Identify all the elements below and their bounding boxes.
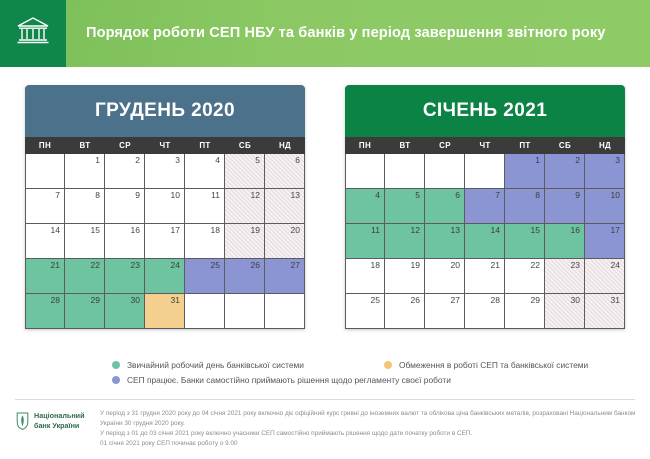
day-cell[interactable]: 1 <box>65 154 105 189</box>
day-number: 25 <box>211 261 220 270</box>
day-cell[interactable]: 9 <box>545 189 585 224</box>
day-cell-empty <box>185 294 225 329</box>
nbu-logo-line2: банк України <box>34 421 79 430</box>
day-number: 7 <box>55 191 60 200</box>
day-cell[interactable]: 22 <box>65 259 105 294</box>
day-number: 1 <box>95 156 100 165</box>
day-cell[interactable]: 9 <box>105 189 145 224</box>
day-cell-empty <box>25 154 65 189</box>
header-icon-container <box>0 0 66 67</box>
weekday-label-wed: СР <box>105 137 145 154</box>
day-number: 24 <box>611 261 620 270</box>
day-number: 30 <box>571 296 580 305</box>
day-number: 28 <box>51 296 60 305</box>
day-number: 26 <box>251 261 260 270</box>
page-header: Порядок роботи СЕП НБУ та банків у періо… <box>0 0 650 67</box>
day-cell[interactable]: 30 <box>545 294 585 329</box>
day-cell[interactable]: 13 <box>265 189 305 224</box>
day-cell[interactable]: 20 <box>265 224 305 259</box>
day-cell[interactable]: 19 <box>225 224 265 259</box>
legend-dot-green-icon <box>112 361 120 369</box>
day-cell[interactable]: 16 <box>545 224 585 259</box>
legend-row-2: СЕП працює. Банки самостійно приймають р… <box>112 375 632 385</box>
day-number: 12 <box>251 191 260 200</box>
day-number: 9 <box>135 191 140 200</box>
weekday-label-wed: СР <box>425 137 465 154</box>
day-cell[interactable]: 21 <box>465 259 505 294</box>
day-number: 13 <box>291 191 300 200</box>
day-cell[interactable]: 27 <box>265 259 305 294</box>
day-cell[interactable]: 25 <box>185 259 225 294</box>
weekday-label-mon: ПН <box>25 137 65 154</box>
weekday-label-tue: ВТ <box>65 137 105 154</box>
day-number: 20 <box>451 261 460 270</box>
weekday-label-thu: ЧТ <box>145 137 185 154</box>
legend-row-1: Звичайний робочий день банківської систе… <box>112 360 632 370</box>
day-number: 14 <box>51 226 60 235</box>
day-cell[interactable]: 4 <box>185 154 225 189</box>
day-number: 12 <box>411 226 420 235</box>
day-cell-empty <box>425 154 465 189</box>
weekday-label-thu: ЧТ <box>465 137 505 154</box>
day-cell-empty <box>345 154 385 189</box>
day-cell[interactable]: 13 <box>425 224 465 259</box>
day-cell[interactable]: 18 <box>345 259 385 294</box>
day-cell[interactable]: 23 <box>105 259 145 294</box>
day-cell[interactable]: 30 <box>105 294 145 329</box>
nbu-logo-text: Національний банк України <box>34 411 85 430</box>
day-cell[interactable]: 8 <box>505 189 545 224</box>
day-number: 2 <box>135 156 140 165</box>
day-number: 15 <box>91 226 100 235</box>
footer-note-3: 01 січня 2021 року СЕП починає роботу о … <box>100 439 636 449</box>
day-number: 29 <box>531 296 540 305</box>
day-number: 18 <box>371 261 380 270</box>
day-cell[interactable]: 15 <box>65 224 105 259</box>
day-number: 28 <box>491 296 500 305</box>
day-number: 5 <box>415 191 420 200</box>
day-cell[interactable]: 6 <box>265 154 305 189</box>
page-footer: Національний банк України У період з 31 … <box>0 405 650 459</box>
header-title-container: Порядок роботи СЕП НБУ та банків у періо… <box>66 0 650 67</box>
day-cell[interactable]: 20 <box>425 259 465 294</box>
day-number: 11 <box>211 191 220 200</box>
day-cell[interactable]: 23 <box>545 259 585 294</box>
day-number: 22 <box>531 261 540 270</box>
day-number: 1 <box>535 156 540 165</box>
footer-note-1: У період з 31 грудня 2020 року до 04 січ… <box>100 409 636 429</box>
day-number: 5 <box>255 156 260 165</box>
day-number: 23 <box>571 261 580 270</box>
day-cell[interactable]: 15 <box>505 224 545 259</box>
day-number: 13 <box>451 226 460 235</box>
day-number: 30 <box>131 296 140 305</box>
day-cell[interactable]: 22 <box>505 259 545 294</box>
day-cell[interactable]: 25 <box>345 294 385 329</box>
legend-label-sep: СЕП працює. Банки самостійно приймають р… <box>127 375 451 385</box>
day-cell[interactable]: 24 <box>585 259 625 294</box>
nbu-logo-line1: Національний <box>34 411 85 420</box>
day-cell[interactable]: 27 <box>425 294 465 329</box>
day-cell[interactable]: 18 <box>185 224 225 259</box>
day-number: 8 <box>95 191 100 200</box>
day-cell[interactable]: 29 <box>505 294 545 329</box>
day-number: 24 <box>171 261 180 270</box>
calendar-december-grid: 1234567891011121314151617181920212223242… <box>25 154 305 329</box>
day-cell[interactable]: 6 <box>425 189 465 224</box>
calendar-january-grid: 1234567891011121314151617181920212223242… <box>345 154 625 329</box>
page-title: Порядок роботи СЕП НБУ та банків у періо… <box>86 24 605 43</box>
day-cell[interactable]: 7 <box>25 189 65 224</box>
weekday-label-mon: ПН <box>345 137 385 154</box>
legend-item-limited: Обмеження в роботі СЕП та банківської си… <box>384 360 588 370</box>
day-cell[interactable]: 5 <box>385 189 425 224</box>
day-number: 19 <box>251 226 260 235</box>
weekday-label-sun: НД <box>585 137 625 154</box>
legend-label-work: Звичайний робочий день банківської систе… <box>127 360 304 370</box>
day-cell-empty <box>465 154 505 189</box>
footer-notes: У період з 31 грудня 2020 року до 04 січ… <box>100 405 650 449</box>
weekday-label-fri: ПТ <box>505 137 545 154</box>
legend-dot-blue-icon <box>112 376 120 384</box>
day-number: 2 <box>575 156 580 165</box>
day-cell[interactable]: 2 <box>545 154 585 189</box>
day-number: 4 <box>215 156 220 165</box>
day-cell[interactable]: 29 <box>65 294 105 329</box>
day-cell[interactable]: 31 <box>585 294 625 329</box>
day-cell[interactable]: 11 <box>345 224 385 259</box>
legend-item-sep: СЕП працює. Банки самостійно приймають р… <box>112 375 451 385</box>
day-number: 17 <box>171 226 180 235</box>
day-cell-empty <box>225 294 265 329</box>
day-number: 6 <box>455 191 460 200</box>
day-number: 10 <box>171 191 180 200</box>
day-number: 7 <box>495 191 500 200</box>
nbu-logo: Національний банк України <box>0 405 100 435</box>
day-cell[interactable]: 1 <box>505 154 545 189</box>
day-cell[interactable]: 14 <box>25 224 65 259</box>
footer-divider <box>15 399 635 400</box>
day-cell[interactable]: 31 <box>145 294 185 329</box>
day-number: 10 <box>611 191 620 200</box>
day-number: 3 <box>175 156 180 165</box>
weekday-label-fri: ПТ <box>185 137 225 154</box>
day-cell[interactable]: 26 <box>385 294 425 329</box>
day-cell-empty <box>265 294 305 329</box>
day-number: 21 <box>491 261 500 270</box>
footer-note-2: У період з 01 до 03 січня 2021 року вклю… <box>100 429 636 439</box>
day-number: 3 <box>615 156 620 165</box>
day-number: 31 <box>171 296 180 305</box>
legend-dot-orange-icon <box>384 361 392 369</box>
day-number: 18 <box>211 226 220 235</box>
day-number: 9 <box>575 191 580 200</box>
day-cell[interactable]: 24 <box>145 259 185 294</box>
day-cell[interactable]: 3 <box>585 154 625 189</box>
legend: Звичайний робочий день банківської систе… <box>112 360 632 390</box>
legend-label-limited: Обмеження в роботі СЕП та банківської си… <box>399 360 588 370</box>
day-cell[interactable]: 14 <box>465 224 505 259</box>
day-number: 14 <box>491 226 500 235</box>
day-cell[interactable]: 4 <box>345 189 385 224</box>
calendar-december-weekday-row: ПН ВТ СР ЧТ ПТ СБ НД <box>25 137 305 154</box>
day-cell[interactable]: 17 <box>585 224 625 259</box>
day-number: 8 <box>535 191 540 200</box>
calendar-december-title: ГРУДЕНЬ 2020 <box>25 85 305 137</box>
day-cell[interactable]: 12 <box>385 224 425 259</box>
day-cell[interactable]: 28 <box>25 294 65 329</box>
calendar-january-title: СІЧЕНЬ 2021 <box>345 85 625 137</box>
day-number: 16 <box>131 226 140 235</box>
day-number: 22 <box>91 261 100 270</box>
calendar-january: СІЧЕНЬ 2021 ПН ВТ СР ЧТ ПТ СБ НД 1234567… <box>345 85 625 329</box>
weekday-label-sun: НД <box>265 137 305 154</box>
day-number: 23 <box>131 261 140 270</box>
day-number: 16 <box>571 226 580 235</box>
weekday-label-tue: ВТ <box>385 137 425 154</box>
day-cell[interactable]: 3 <box>145 154 185 189</box>
day-cell[interactable]: 5 <box>225 154 265 189</box>
day-cell[interactable]: 12 <box>225 189 265 224</box>
legend-item-work: Звичайний робочий день банківської систе… <box>112 360 384 370</box>
day-cell[interactable]: 17 <box>145 224 185 259</box>
day-cell[interactable]: 10 <box>145 189 185 224</box>
day-number: 25 <box>371 296 380 305</box>
day-cell[interactable]: 19 <box>385 259 425 294</box>
day-cell[interactable]: 11 <box>185 189 225 224</box>
day-number: 21 <box>51 261 60 270</box>
calendar-december: ГРУДЕНЬ 2020 ПН ВТ СР ЧТ ПТ СБ НД 123456… <box>25 85 305 329</box>
day-cell[interactable]: 8 <box>65 189 105 224</box>
day-number: 27 <box>291 261 300 270</box>
day-number: 26 <box>411 296 420 305</box>
day-number: 15 <box>531 226 540 235</box>
day-number: 20 <box>291 226 300 235</box>
bank-building-icon <box>16 16 50 51</box>
day-cell[interactable]: 2 <box>105 154 145 189</box>
day-cell[interactable]: 7 <box>465 189 505 224</box>
day-number: 27 <box>451 296 460 305</box>
day-number: 4 <box>375 191 380 200</box>
day-cell[interactable]: 28 <box>465 294 505 329</box>
day-cell-empty <box>385 154 425 189</box>
day-number: 31 <box>611 296 620 305</box>
day-number: 6 <box>295 156 300 165</box>
weekday-label-sat: СБ <box>225 137 265 154</box>
day-cell[interactable]: 16 <box>105 224 145 259</box>
nbu-trident-icon <box>16 412 29 435</box>
calendar-january-weekday-row: ПН ВТ СР ЧТ ПТ СБ НД <box>345 137 625 154</box>
weekday-label-sat: СБ <box>545 137 585 154</box>
day-number: 17 <box>611 226 620 235</box>
day-number: 11 <box>371 226 380 235</box>
day-cell[interactable]: 10 <box>585 189 625 224</box>
day-cell[interactable]: 21 <box>25 259 65 294</box>
day-cell[interactable]: 26 <box>225 259 265 294</box>
day-number: 29 <box>91 296 100 305</box>
day-number: 19 <box>411 261 420 270</box>
